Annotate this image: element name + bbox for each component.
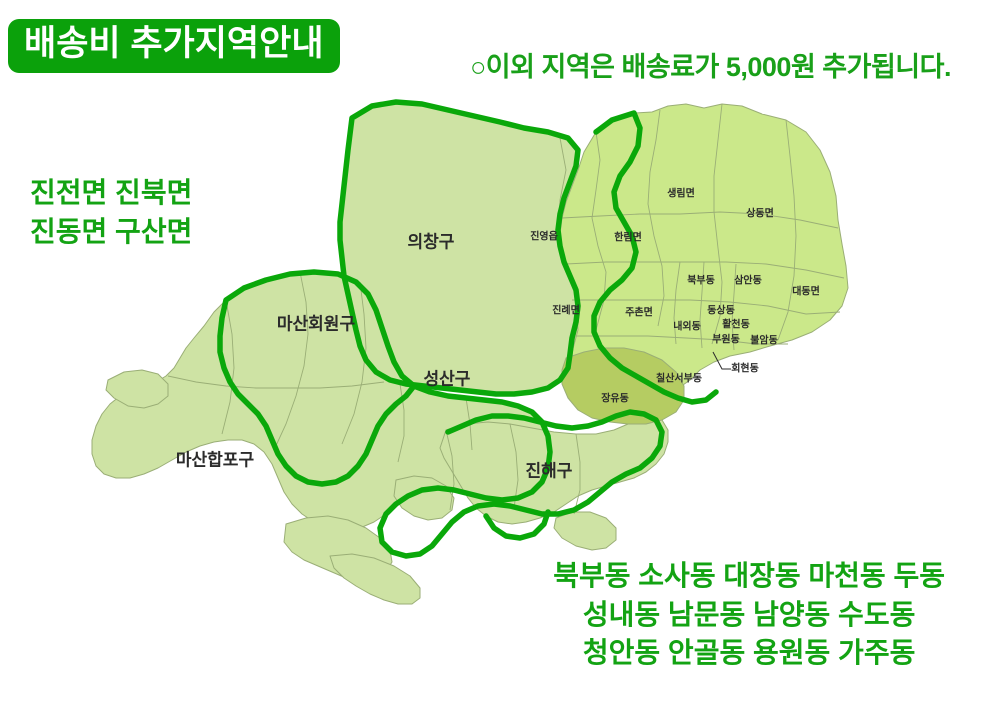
shipping-fee-region-map-page: .land{stroke:#9aae76;stroke-width:1;stro… [0, 0, 1000, 708]
extra-fee-notice: ○이외 지역은 배송료가 5,000원 추가됩니다. [470, 45, 951, 84]
map-label-동상동: 동상동 [707, 304, 735, 317]
extra-fee-region-list-left: 진전면 진북면진동면 구산면 [30, 174, 192, 251]
map-label-장유동: 장유동 [601, 392, 629, 405]
map-label-한림면: 한림면 [614, 231, 642, 244]
map-label-의창구: 의창구 [408, 232, 455, 251]
map-label-마산회원구: 마산회원구 [277, 314, 356, 333]
map-label-활천동: 활천동 [722, 318, 750, 331]
region-bottom-line-3: 청안동 안골동 용원동 가주동 [553, 634, 945, 673]
map-label-삼안동: 삼안동 [734, 274, 762, 287]
map-label-진영읍: 진영읍 [530, 230, 558, 243]
map-label-생림면: 생림면 [667, 187, 695, 200]
map-label-대동면: 대동면 [792, 285, 820, 298]
region-left-line-2: 진동면 구산면 [30, 213, 192, 252]
map-label-마산합포구: 마산합포구 [176, 449, 255, 469]
region-bottom-line-2: 성내동 남문동 남양동 수도동 [553, 596, 945, 635]
region-left-line-1: 진전면 진북면 [30, 174, 192, 213]
map-label-주촌면: 주촌면 [625, 306, 653, 319]
extra-fee-region-list-bottom: 북부동 소사동 대장동 마천동 두동성내동 남문동 남양동 수도동청안동 안골동… [553, 557, 945, 673]
map-label-상동면: 상동면 [746, 207, 774, 220]
map-label-진해구: 진해구 [526, 461, 573, 480]
map-label-부원동: 부원동 [712, 333, 740, 346]
map-label-북부동: 북부동 [687, 275, 715, 287]
map-label-불암동: 불암동 [750, 335, 778, 347]
page-title-badge: 배송비 추가지역안내 [8, 19, 340, 73]
map-label-칠산서부동: 칠산서부동 [656, 372, 702, 385]
region-bottom-line-1: 북부동 소사동 대장동 마천동 두동 [553, 557, 945, 596]
map-label-성산구: 성산구 [424, 369, 471, 388]
map-label-진례면: 진례면 [552, 304, 580, 317]
map-label-내외동: 내외동 [673, 320, 701, 333]
map-label-회현동: 회현동 [731, 362, 759, 375]
